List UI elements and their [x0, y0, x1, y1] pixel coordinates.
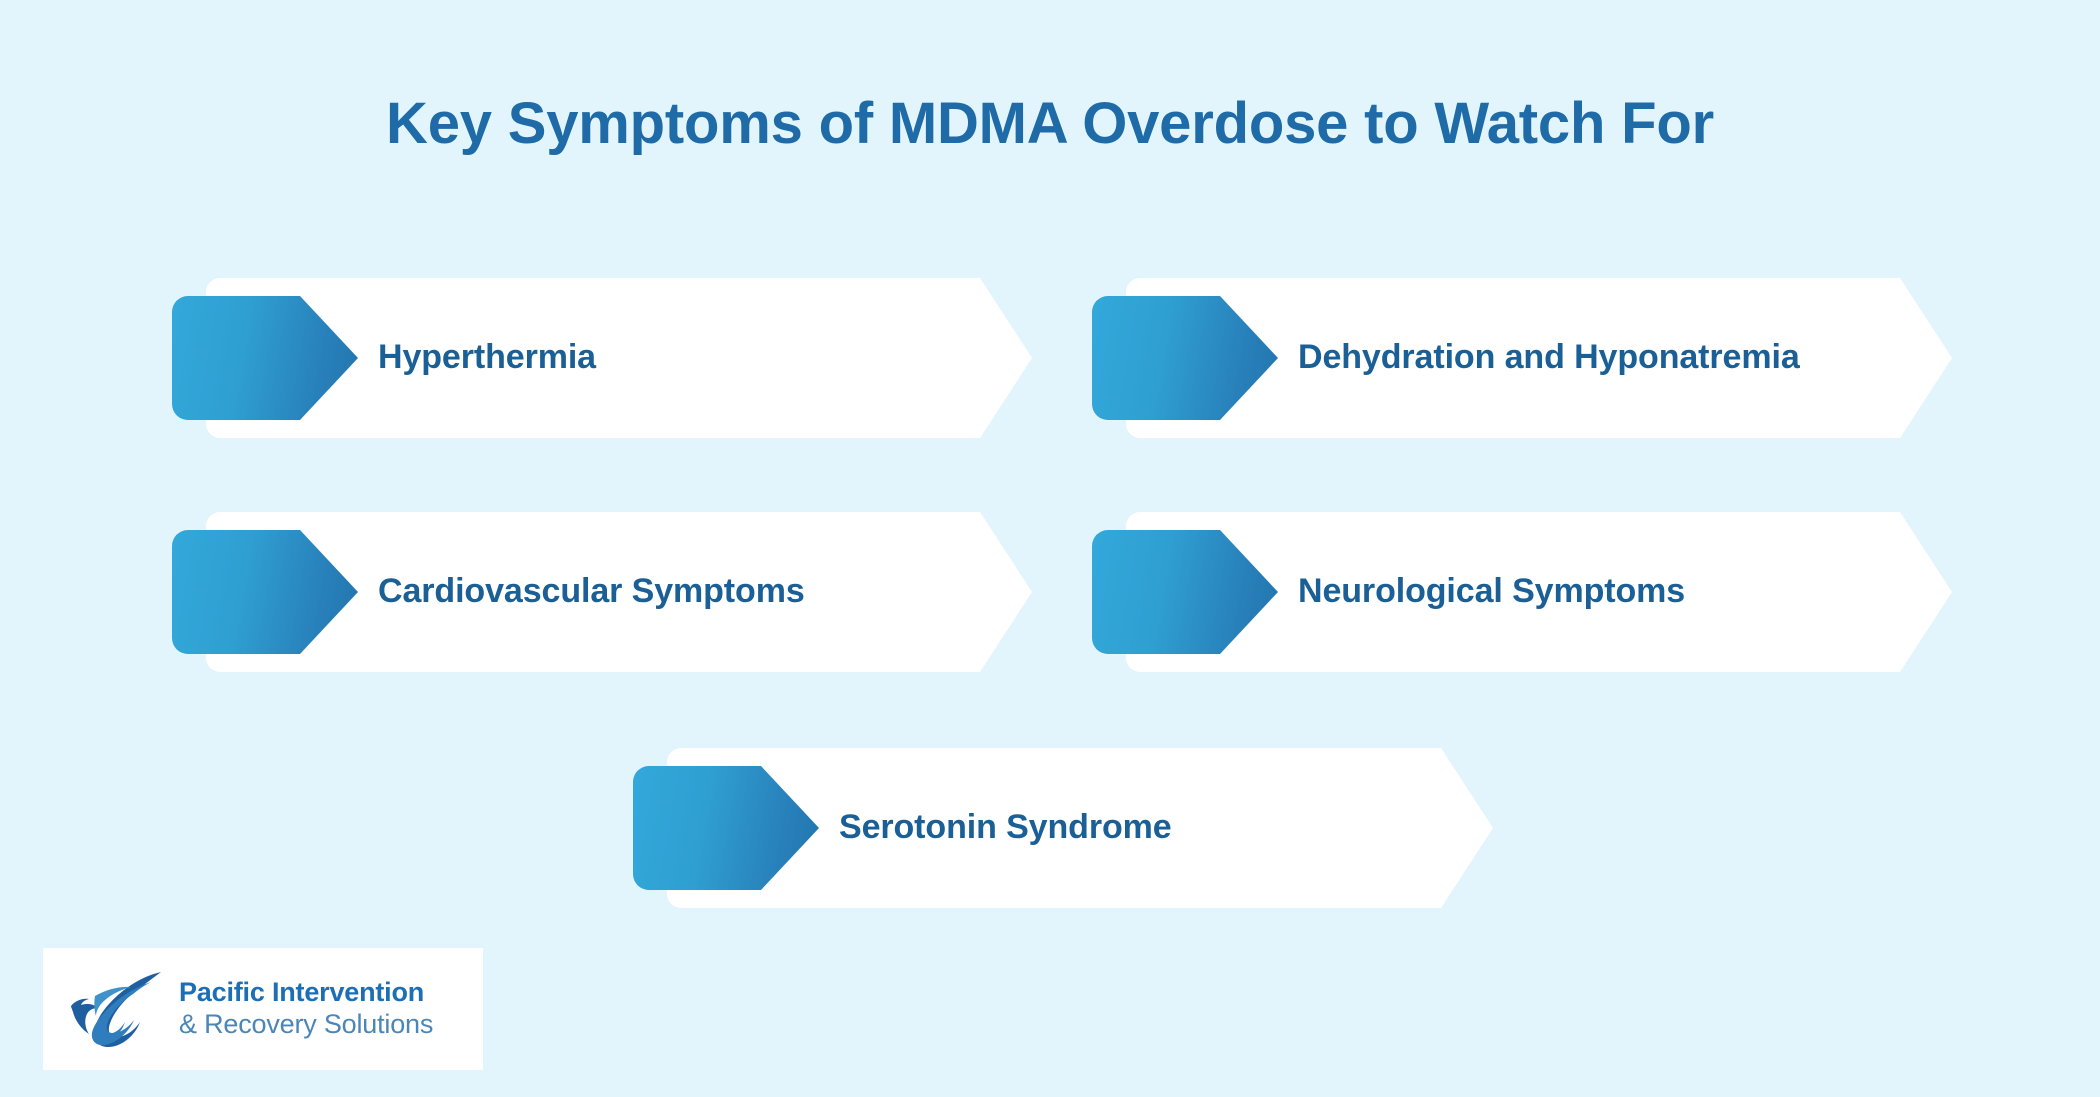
brand-logo[interactable]: Pacific Intervention & Recovery Solution… — [43, 948, 483, 1070]
symptom-card-hyperthermia[interactable]: Hyperthermia — [172, 278, 1032, 438]
symptom-card-label: Cardiovascular Symptoms — [378, 512, 978, 672]
symptom-card-dehydration-and-hyponatremia[interactable]: Dehydration and Hyponatremia — [1092, 278, 1952, 438]
symptom-card-label: Dehydration and Hyponatremia — [1298, 278, 1898, 438]
symptom-card-cardiovascular-symptoms[interactable]: Cardiovascular Symptoms — [172, 512, 1032, 672]
symptom-card-label: Serotonin Syndrome — [839, 748, 1439, 908]
symptom-card-neurological-symptoms[interactable]: Neurological Symptoms — [1092, 512, 1952, 672]
symptom-card-grid: Hyperthermia Dehydration and Hyponatremi… — [0, 0, 2100, 1097]
brand-logo-text: Pacific Intervention & Recovery Solution… — [179, 977, 433, 1040]
brand-name-secondary: & Recovery Solutions — [179, 1008, 433, 1040]
brand-name-primary: Pacific Intervention — [179, 977, 433, 1008]
symptom-card-label: Hyperthermia — [378, 278, 978, 438]
symptom-card-serotonin-syndrome[interactable]: Serotonin Syndrome — [633, 748, 1493, 908]
symptom-card-label: Neurological Symptoms — [1298, 512, 1898, 672]
bird-swoosh-icon — [65, 966, 169, 1052]
